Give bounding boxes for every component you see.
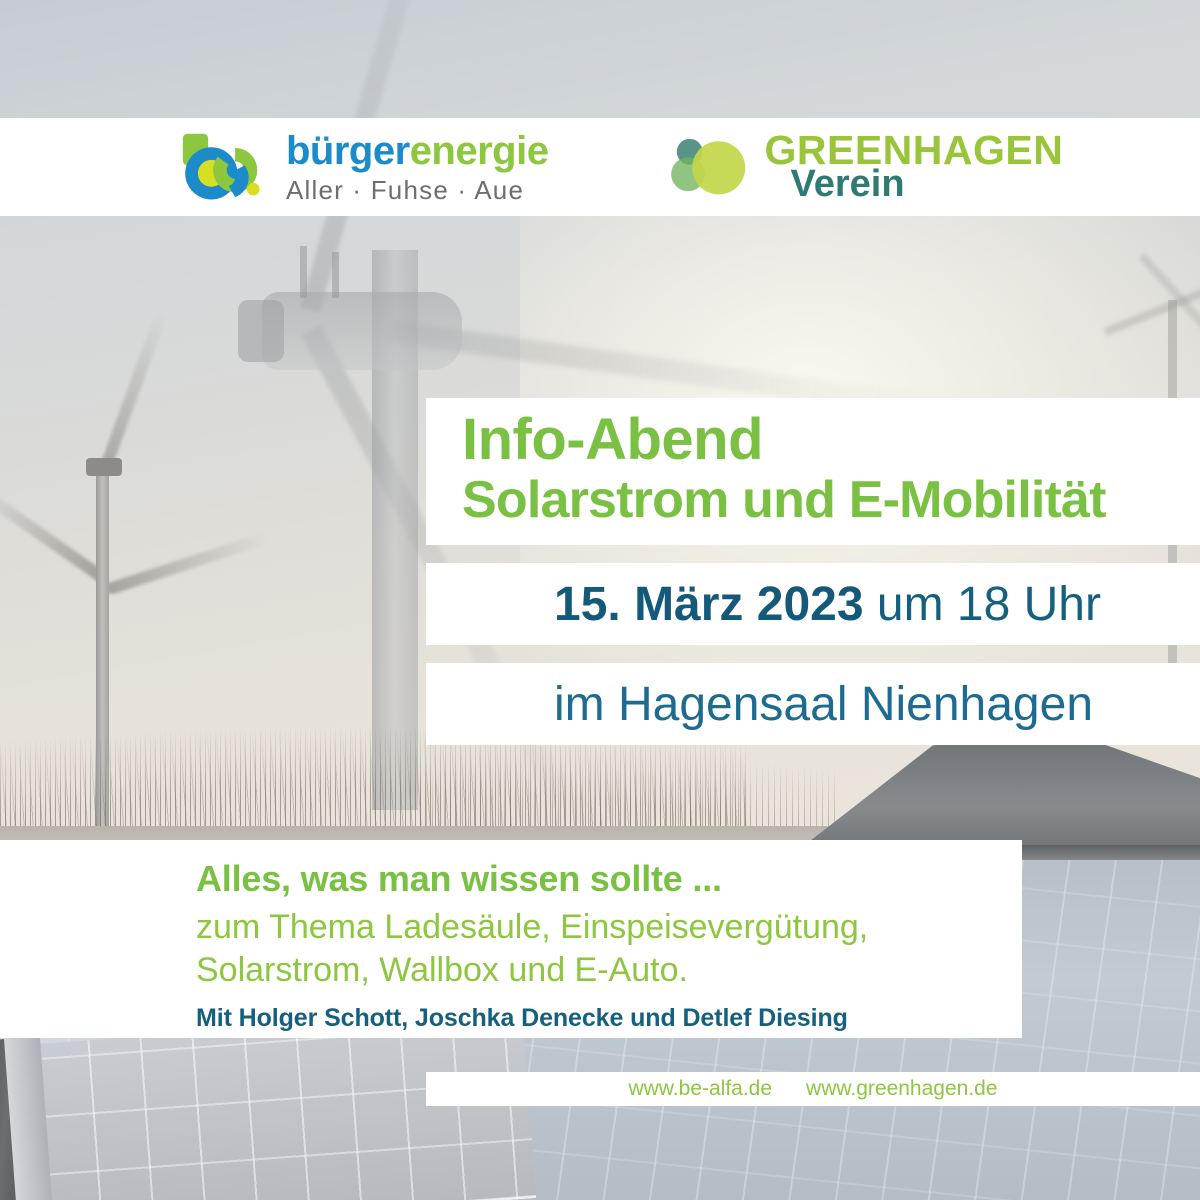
logo-row: bürgerenergie Aller · Fuhse · Aue GREENH… [0, 129, 1063, 205]
title-line-1: Info-Abend [462, 406, 763, 473]
venue-line: im Hagensaal Nienhagen [554, 677, 1093, 732]
info-body: zum Thema Ladesäule, Einspeisevergütung,… [196, 906, 868, 992]
greenhagen-wordmark: GREENHAGEN Verein [764, 132, 1063, 203]
buergerenergie-word-buerger: bürger [286, 129, 410, 173]
info-content: Alles, was man wissen sollte ... zum The… [196, 858, 868, 1033]
left-turbine-nacelle [86, 458, 122, 476]
info-body-line-2: Solarstrom, Wallbox und E-Auto. [196, 949, 868, 992]
info-heading: Alles, was man wissen sollte ... [196, 858, 868, 900]
large-turbine-nacelle [262, 292, 462, 370]
large-turbine-mast-a [300, 246, 307, 298]
links-band: www.be-alfa.de www.greenhagen.de [426, 1072, 1200, 1106]
date-band: 15. März 2023 um 18 Uhr [426, 563, 1200, 645]
links-row: www.be-alfa.de www.greenhagen.de [426, 1072, 1200, 1106]
be-monogram-icon [176, 129, 272, 205]
poster-root: bürgerenergie Aller · Fuhse · Aue GREENH… [0, 0, 1200, 1200]
buergerenergie-title: bürgerenergie [286, 131, 548, 171]
info-band: Alles, was man wissen sollte ... zum The… [0, 840, 1022, 1038]
info-speakers: Mit Holger Schott, Joschka Denecke und D… [196, 1004, 868, 1033]
greenhagen-circles-icon [668, 134, 750, 200]
info-body-line-1: zum Thema Ladesäule, Einspeisevergütung, [196, 906, 868, 949]
link-greenhagen[interactable]: www.greenhagen.de [806, 1077, 997, 1101]
buergerenergie-subtitle: Aller · Fuhse · Aue [286, 177, 548, 203]
date-value: 15. März 2023 [554, 578, 864, 631]
title-line-2: Solarstrom und E-Mobilität [462, 470, 1106, 530]
venue-band: im Hagensaal Nienhagen [426, 663, 1200, 745]
buergerenergie-wordmark: bürgerenergie Aller · Fuhse · Aue [286, 131, 548, 203]
greenhagen-subtitle: Verein [790, 167, 1063, 202]
large-turbine-mast-b [332, 252, 339, 298]
greenhagen-logo[interactable]: GREENHAGEN Verein [668, 132, 1063, 203]
large-turbine-hub [238, 300, 284, 362]
title-band: Info-Abend Solarstrom und E-Mobilität [426, 398, 1200, 545]
header-band: bürgerenergie Aller · Fuhse · Aue GREENH… [0, 118, 1200, 216]
date-line: 15. März 2023 um 18 Uhr [554, 577, 1101, 632]
time-value: um 18 Uhr [864, 578, 1101, 631]
link-be-alfa[interactable]: www.be-alfa.de [628, 1077, 772, 1101]
buergerenergie-logo[interactable]: bürgerenergie Aller · Fuhse · Aue [176, 129, 548, 205]
buergerenergie-word-energie: energie [410, 129, 549, 173]
